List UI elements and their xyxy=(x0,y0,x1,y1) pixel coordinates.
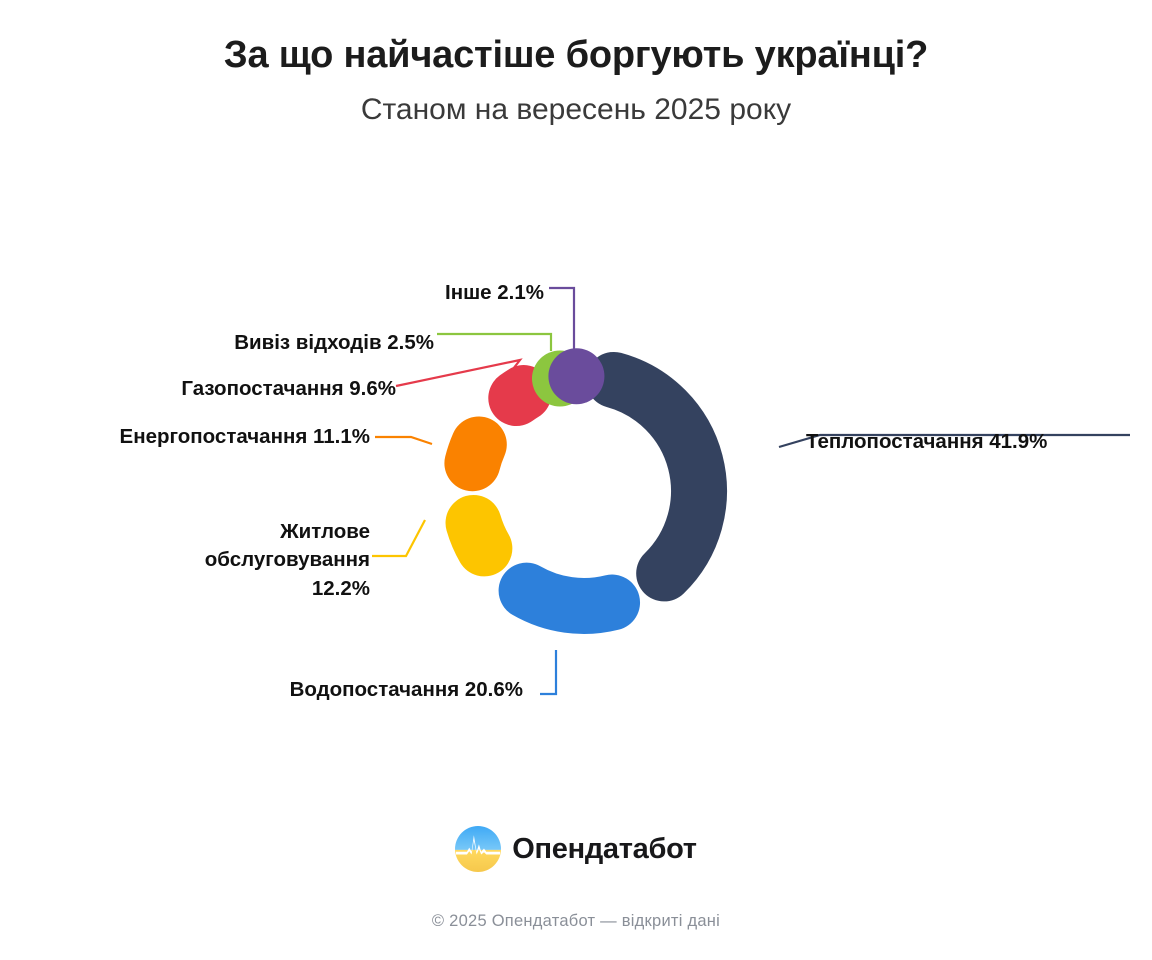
donut-slice xyxy=(472,445,478,464)
leader-lines xyxy=(372,288,1130,694)
slice-label-inshe: Інше 2.1% xyxy=(445,279,544,307)
slice-label-teplopostachannya: Теплопостачання 41.9% xyxy=(806,428,1047,456)
donut-slice xyxy=(527,591,612,606)
donut-chart-svg xyxy=(0,0,1152,960)
leader-line xyxy=(549,288,574,349)
infographic-root: За що найчастіше боргують українці? Стан… xyxy=(0,0,1152,960)
donut-slice xyxy=(516,393,523,398)
brand-block: Опендатабот xyxy=(0,826,1152,872)
brand-name: Опендатабот xyxy=(512,833,696,866)
slice-label-hazopostachannya: Газопостачання 9.6% xyxy=(181,375,396,403)
donut-slice xyxy=(614,380,699,573)
leader-line xyxy=(375,437,432,444)
slice-label-zhytlove-obsluhovuvannya: Житлове обслуговування 12.2% xyxy=(205,518,370,603)
leader-line xyxy=(540,650,556,694)
leader-line xyxy=(372,520,425,556)
opendatabot-logo-icon xyxy=(455,826,501,872)
copyright-text: © 2025 Опендатабот — відкриті дані xyxy=(0,912,1152,931)
slice-label-enerhopostachannya: Енергопостачання 11.1% xyxy=(120,423,370,451)
leader-line xyxy=(437,334,551,351)
slice-label-vyviz-vidkhodiv: Вивіз відходів 2.5% xyxy=(234,329,434,357)
donut-slice xyxy=(474,523,485,548)
donut-slices xyxy=(472,376,699,606)
slice-label-vodopostachannya: Водопостачання 20.6% xyxy=(290,676,523,704)
donut-chart: Теплопостачання 41.9% Водопостачання 20.… xyxy=(0,0,1152,960)
